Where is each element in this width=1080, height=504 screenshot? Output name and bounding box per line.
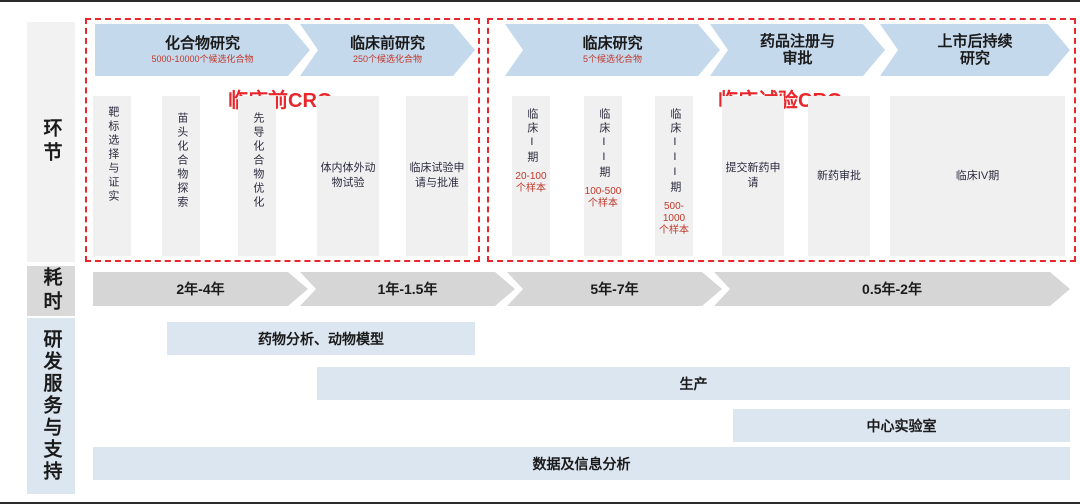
stage-sublabel-line-2: 个样本	[585, 198, 622, 210]
stage-sublabel-line-1: 100-500	[585, 186, 622, 198]
phase-chevron-clinical-research[interactable]: 临床研究 5个候选化合物	[505, 24, 720, 76]
service-bar-central-lab[interactable]: 中心实验室	[733, 409, 1070, 442]
service-bar-manufacturing[interactable]: 生产	[317, 367, 1070, 400]
phase-title-line-1: 药品注册与	[760, 33, 835, 50]
stage-box-hit-discovery[interactable]: 苗头化合物探索	[162, 96, 200, 256]
stage-box-nda-approval[interactable]: 新药审批	[808, 96, 870, 256]
stage-box-phase-4[interactable]: 临床IV期	[890, 96, 1065, 256]
stage-sublabel-line-2: 个样本	[515, 183, 546, 195]
top-divider-rule	[0, 0, 1080, 2]
stage-box-lead-optimization[interactable]: 先导化合物优化	[238, 96, 276, 256]
phase-title-line-2: 审批	[760, 50, 835, 67]
phase-subtitle: 5个候选化合物	[583, 55, 642, 65]
stage-label: 临床试验申请与批准	[406, 161, 468, 191]
service-bar-data-analysis[interactable]: 数据及信息分析	[93, 447, 1070, 480]
phase-chevron-drug-registration[interactable]: 药品注册与 审批	[710, 24, 885, 76]
phase-subtitle: 250个候选化合物	[353, 55, 422, 65]
phase-title: 临床前研究	[350, 35, 425, 52]
row-label-stages: 环节	[27, 22, 75, 262]
phase-chevron-preclinical-research[interactable]: 临床前研究 250个候选化合物	[300, 24, 475, 76]
stage-label: 靶标选择与证实	[105, 106, 119, 204]
row-label-duration: 耗时	[27, 266, 75, 316]
stage-box-phase-1[interactable]: 临床I期 20-100 个样本	[512, 96, 550, 256]
stage-sublabel: 20-100 个样本	[515, 171, 546, 195]
stage-label: 临床II期	[596, 108, 610, 180]
duration-chevron-2[interactable]: 1年-1.5年	[300, 272, 515, 306]
stage-label: 提交新药申请	[722, 161, 784, 191]
stage-sublabel-line-2: 个样本	[655, 225, 693, 237]
phase-title-line-1: 上市后持续	[937, 33, 1012, 50]
phase-title: 临床研究	[582, 35, 642, 52]
stage-label: 苗头化合物探索	[174, 112, 188, 210]
phase-title-line-2: 研究	[937, 50, 1012, 67]
phase-subtitle: 5000-10000个候选化合物	[151, 55, 253, 65]
phase-title: 药品注册与 审批	[760, 33, 835, 68]
stage-box-target-selection[interactable]: 靶标选择与证实	[93, 96, 131, 256]
stage-box-nda-submission[interactable]: 提交新药申请	[722, 96, 784, 256]
phase-title: 化合物研究	[165, 35, 240, 52]
phase-chevron-compound-research[interactable]: 化合物研究 5000-10000个候选化合物	[95, 24, 310, 76]
stage-sublabel: 100-500 个样本	[585, 186, 622, 210]
stage-label: 临床III期	[667, 108, 681, 195]
pipeline-diagram: 环节 耗时 研发服务与支持 临床前CRO 临床试验CRO 化合物研究 5000-…	[0, 0, 1080, 504]
stage-box-animal-testing[interactable]: 体内体外动物试验	[317, 96, 379, 256]
phase-chevron-post-market[interactable]: 上市后持续 研究	[880, 24, 1070, 76]
duration-chevron-1[interactable]: 2年-4年	[93, 272, 308, 306]
duration-chevron-4[interactable]: 0.5年-2年	[714, 272, 1070, 306]
stage-box-ind-application[interactable]: 临床试验申请与批准	[406, 96, 468, 256]
duration-chevron-3[interactable]: 5年-7年	[507, 272, 722, 306]
phase-title: 上市后持续 研究	[937, 33, 1012, 68]
stage-box-phase-3[interactable]: 临床III期 500-1000 个样本	[655, 96, 693, 256]
stage-label: 临床IV期	[890, 169, 1065, 184]
stage-sublabel: 500-1000 个样本	[655, 201, 693, 237]
stage-label: 临床I期	[524, 108, 538, 165]
stage-label: 新药审批	[808, 169, 870, 184]
row-label-services: 研发服务与支持	[27, 318, 75, 494]
service-bar-drug-analysis[interactable]: 药物分析、动物模型	[167, 322, 475, 355]
stage-label: 体内体外动物试验	[317, 161, 379, 191]
stage-label: 先导化合物优化	[250, 112, 264, 210]
stage-box-phase-2[interactable]: 临床II期 100-500 个样本	[584, 96, 622, 256]
stage-sublabel-line-1: 500-1000	[655, 201, 693, 225]
stage-sublabel-line-1: 20-100	[515, 171, 546, 183]
